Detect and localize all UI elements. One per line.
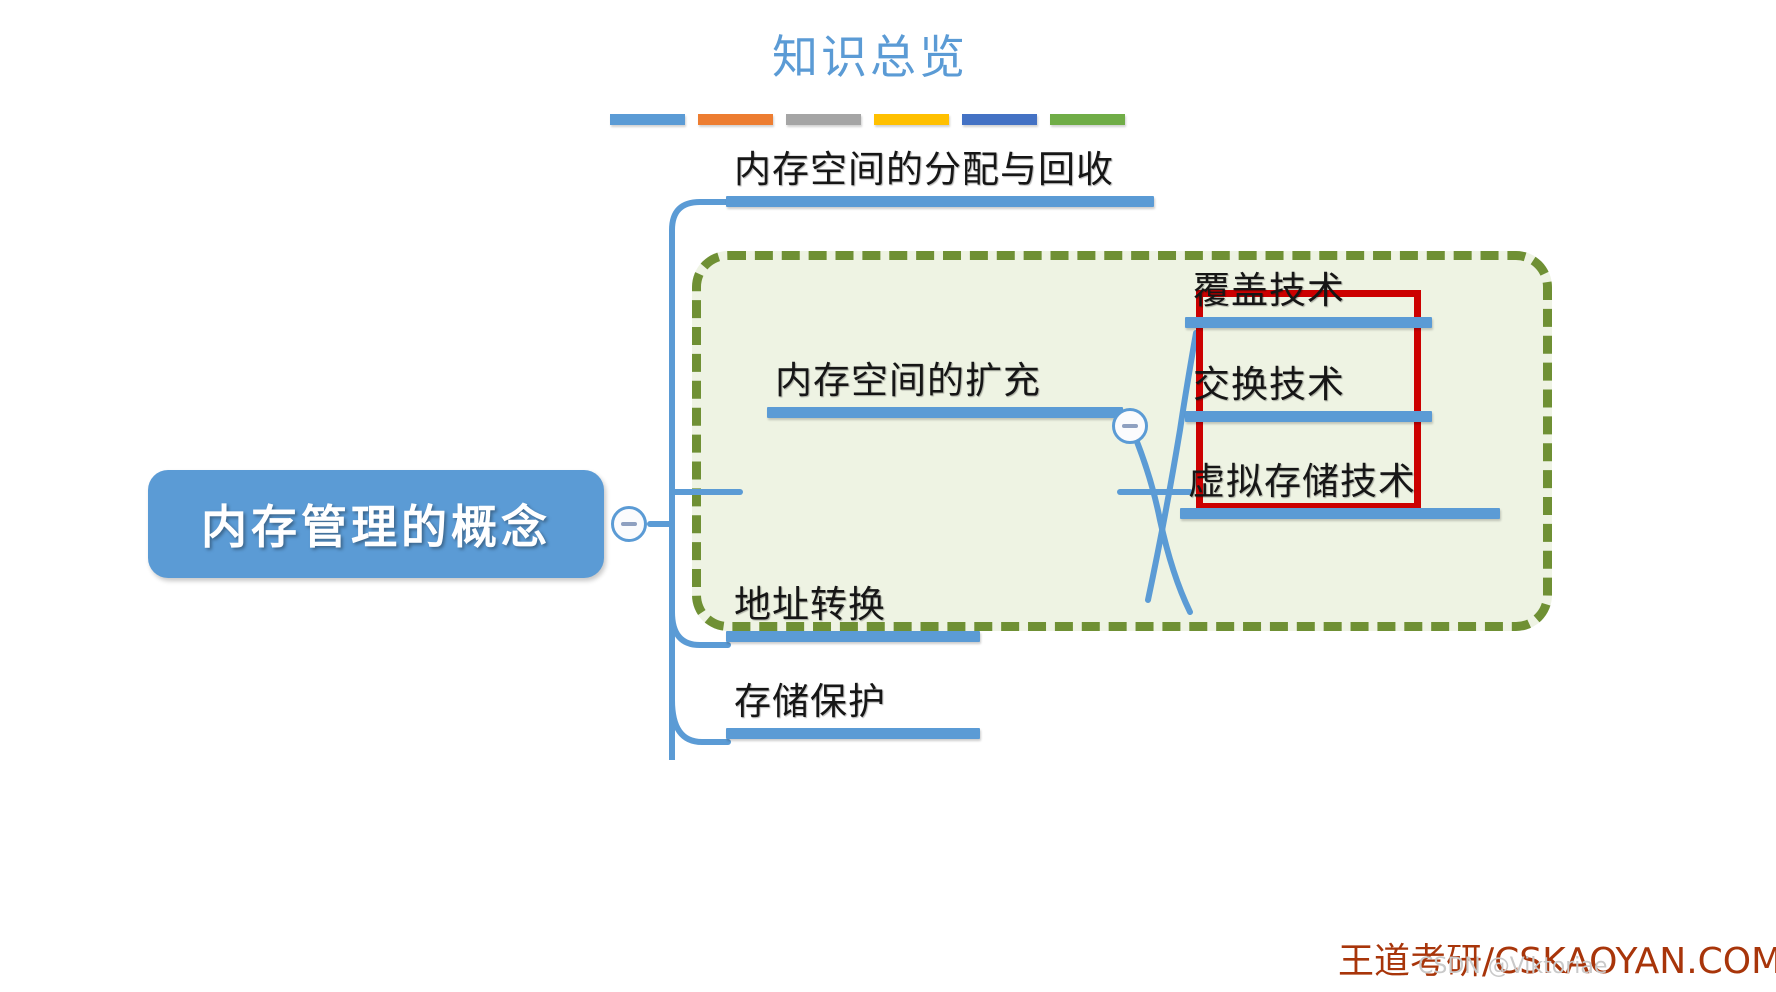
node-memory-allocation-label: 内存空间的分配与回收 xyxy=(726,147,1154,196)
connector-branch-address xyxy=(672,612,728,645)
mindmap: 内存管理的概念 内存空间的分配与回收 内存空间的扩充 覆盖技术 交换技术 虚拟存… xyxy=(0,0,1776,992)
node-storage-protection-label: 存储保护 xyxy=(726,679,980,728)
connector-branch-protect xyxy=(672,700,728,742)
node-underline xyxy=(1180,508,1500,519)
minus-circle-icon-expansion[interactable] xyxy=(1112,408,1148,444)
node-memory-expansion-label: 内存空间的扩充 xyxy=(767,358,1123,407)
node-virtual-storage-technique-label: 虚拟存储技术 xyxy=(1180,459,1500,508)
node-underline xyxy=(726,631,980,642)
node-memory-expansion[interactable]: 内存空间的扩充 xyxy=(767,358,1123,418)
node-swap-technique-label: 交换技术 xyxy=(1185,362,1432,411)
node-underline xyxy=(1185,317,1432,328)
node-address-translation-label: 地址转换 xyxy=(726,582,980,631)
node-swap-technique[interactable]: 交换技术 xyxy=(1185,362,1432,422)
minus-circle-icon-root[interactable] xyxy=(611,506,647,542)
root-node[interactable]: 内存管理的概念 xyxy=(148,470,604,578)
connector-branch-alloc xyxy=(672,202,728,230)
node-underline xyxy=(1185,411,1432,422)
node-address-translation[interactable]: 地址转换 xyxy=(726,582,980,642)
root-node-label: 内存管理的概念 xyxy=(201,491,551,557)
node-underline xyxy=(726,196,1154,207)
watermark-secondary: CSDN @Viktoriae xyxy=(1418,954,1607,979)
node-memory-allocation[interactable]: 内存空间的分配与回收 xyxy=(726,147,1154,207)
node-storage-protection[interactable]: 存储保护 xyxy=(726,679,980,739)
node-virtual-storage-technique[interactable]: 虚拟存储技术 xyxy=(1180,459,1500,519)
node-overlay-technique[interactable]: 覆盖技术 xyxy=(1185,268,1432,328)
node-overlay-technique-label: 覆盖技术 xyxy=(1185,268,1432,317)
node-underline xyxy=(726,728,980,739)
node-underline xyxy=(767,407,1123,418)
slide-canvas: 知识总览 xyxy=(0,0,1776,992)
